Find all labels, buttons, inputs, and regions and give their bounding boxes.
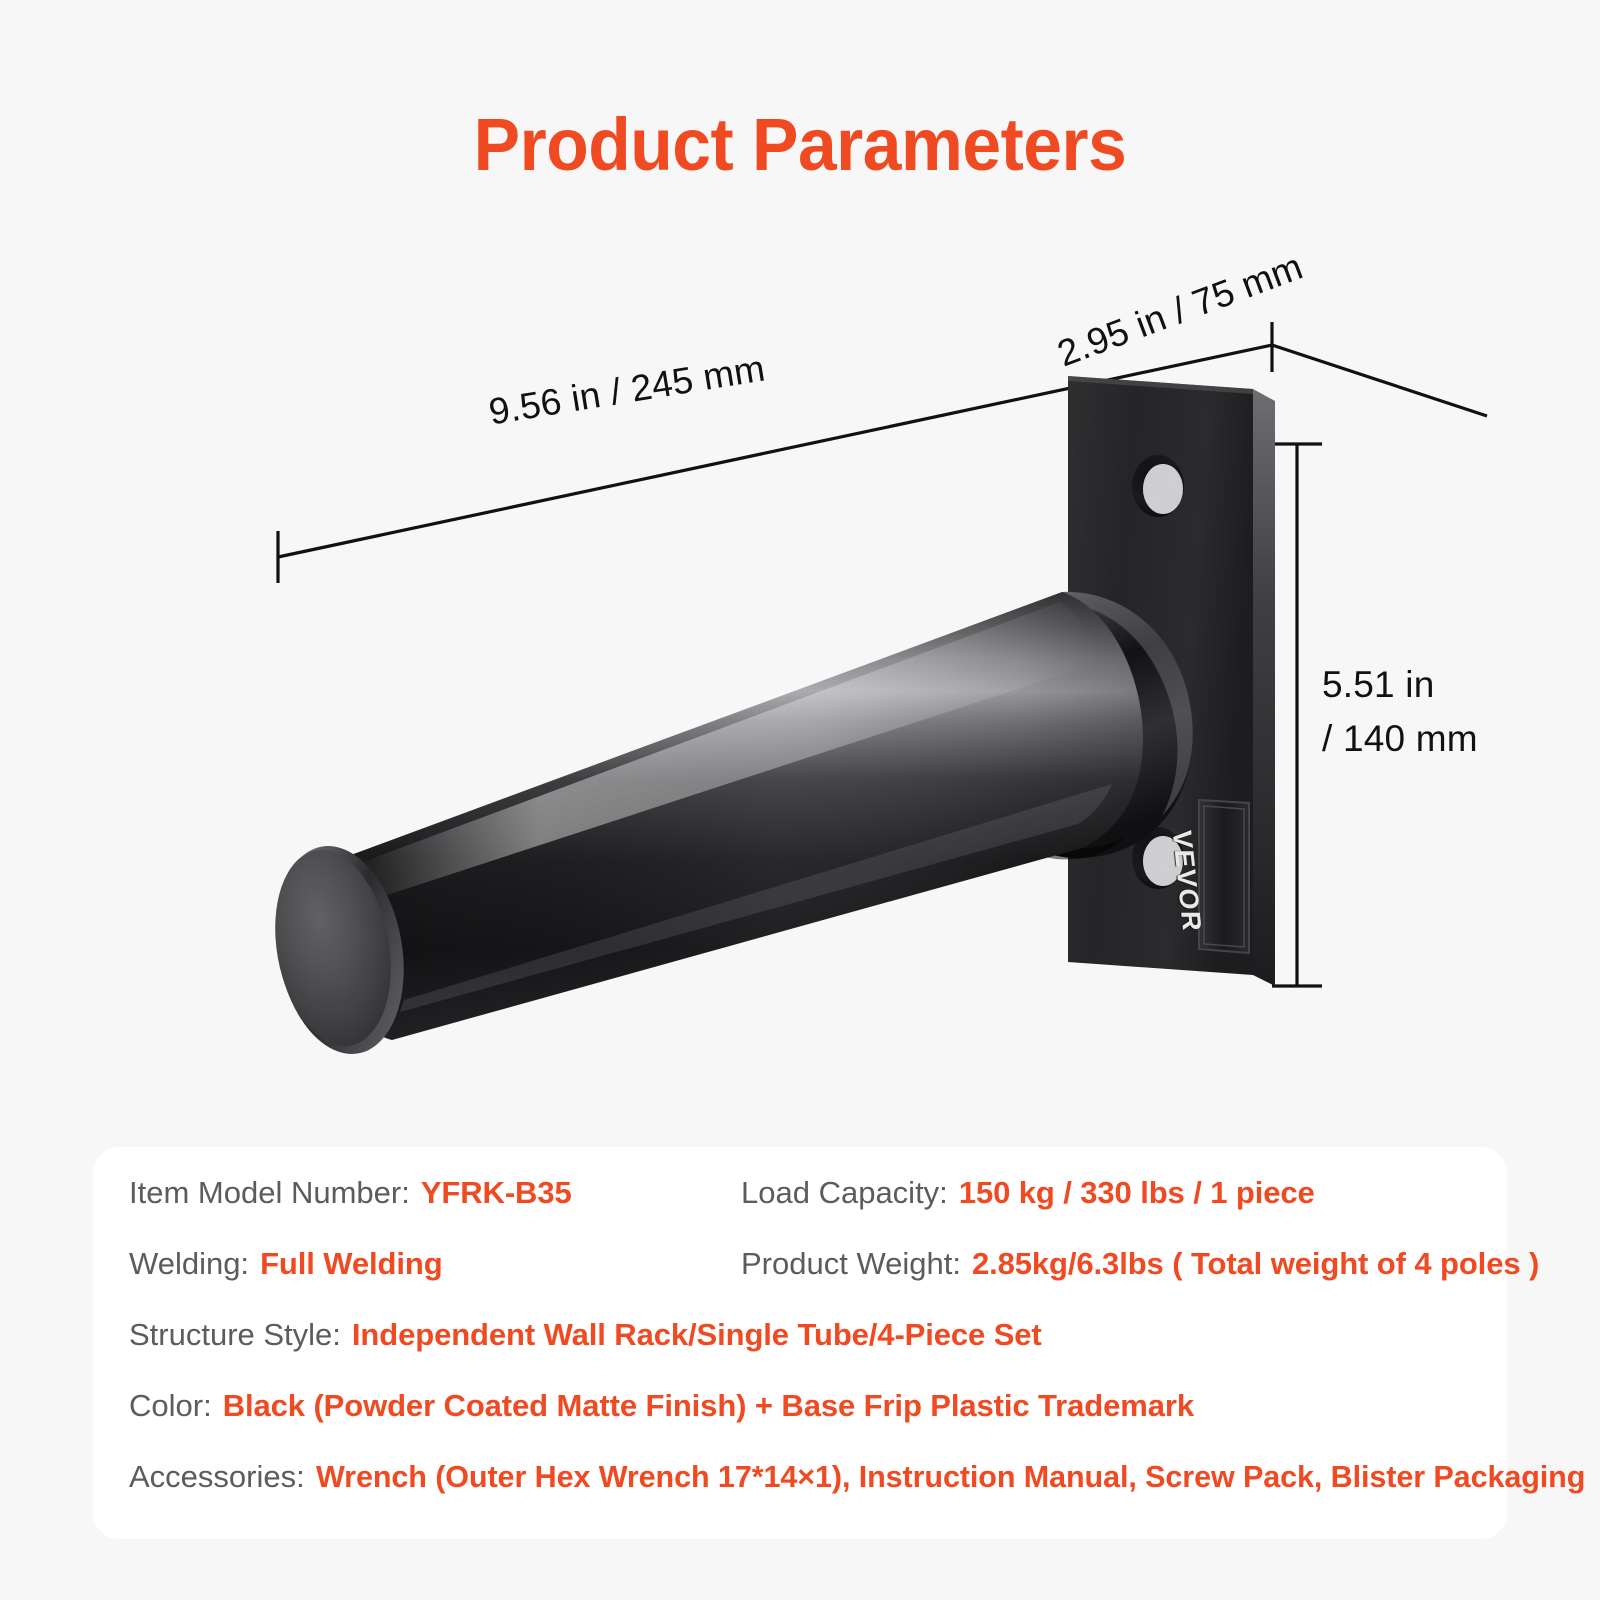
- spec-label: Accessories:: [129, 1459, 305, 1495]
- dimension-label-height: 5.51 in / 140 mm: [1322, 658, 1478, 765]
- vevor-badge: [1199, 800, 1249, 953]
- product-drawing: [0, 0, 1600, 1140]
- dimension-line-depth: [1272, 345, 1487, 416]
- spec-label: Item Model Number:: [129, 1175, 410, 1211]
- mounting-hole-top: [1132, 455, 1184, 517]
- spec-row: Accessories: Wrench (Outer Hex Wrench 17…: [129, 1459, 1489, 1530]
- spec-load-capacity: Load Capacity: 150 kg / 330 lbs / 1 piec…: [741, 1175, 1489, 1211]
- spec-value: Full Welding: [260, 1246, 442, 1282]
- product-illustration: 9.56 in / 245 mm 2.95 in / 75 mm 5.51 in…: [0, 0, 1600, 1140]
- spec-value: 2.85kg/6.3lbs ( Total weight of 4 poles …: [972, 1246, 1539, 1282]
- spec-value: 150 kg / 330 lbs / 1 piece: [959, 1175, 1315, 1211]
- spec-label: Welding:: [129, 1246, 249, 1282]
- spec-grid: Item Model Number: YFRK-B35 Load Capacit…: [129, 1175, 1489, 1530]
- spec-value: YFRK-B35: [421, 1175, 572, 1211]
- spec-row: Color: Black (Powder Coated Matte Finish…: [129, 1388, 1489, 1459]
- spec-accessories: Accessories: Wrench (Outer Hex Wrench 17…: [129, 1459, 1600, 1495]
- spec-color: Color: Black (Powder Coated Matte Finish…: [129, 1388, 1489, 1424]
- spec-product-weight: Product Weight: 2.85kg/6.3lbs ( Total we…: [741, 1246, 1539, 1282]
- spec-row: Welding: Full Welding Product Weight: 2.…: [129, 1246, 1489, 1317]
- spec-label: Load Capacity:: [741, 1175, 948, 1211]
- spec-structure-style: Structure Style: Independent Wall Rack/S…: [129, 1317, 1489, 1353]
- spec-row: Item Model Number: YFRK-B35 Load Capacit…: [129, 1175, 1489, 1246]
- spec-label: Product Weight:: [741, 1246, 961, 1282]
- tube-body: [314, 592, 1143, 1040]
- spec-card: Item Model Number: YFRK-B35 Load Capacit…: [93, 1147, 1507, 1539]
- dimension-label-height-line2: / 140 mm: [1322, 712, 1478, 766]
- dimension-label-height-line1: 5.51 in: [1322, 664, 1435, 705]
- spec-value: Wrench (Outer Hex Wrench 17*14×1), Instr…: [316, 1459, 1585, 1495]
- spec-value: Independent Wall Rack/Single Tube/4-Piec…: [352, 1317, 1042, 1353]
- product-parameters-page: Product Parameters: [0, 0, 1600, 1600]
- spec-label: Color:: [129, 1388, 212, 1424]
- spec-item-model-number: Item Model Number: YFRK-B35: [129, 1175, 741, 1211]
- spec-value: Black (Powder Coated Matte Finish) + Bas…: [223, 1388, 1194, 1424]
- spec-welding: Welding: Full Welding: [129, 1246, 741, 1282]
- spec-label: Structure Style:: [129, 1317, 341, 1353]
- plate-thickness-edge: [1253, 389, 1275, 986]
- spec-row: Structure Style: Independent Wall Rack/S…: [129, 1317, 1489, 1388]
